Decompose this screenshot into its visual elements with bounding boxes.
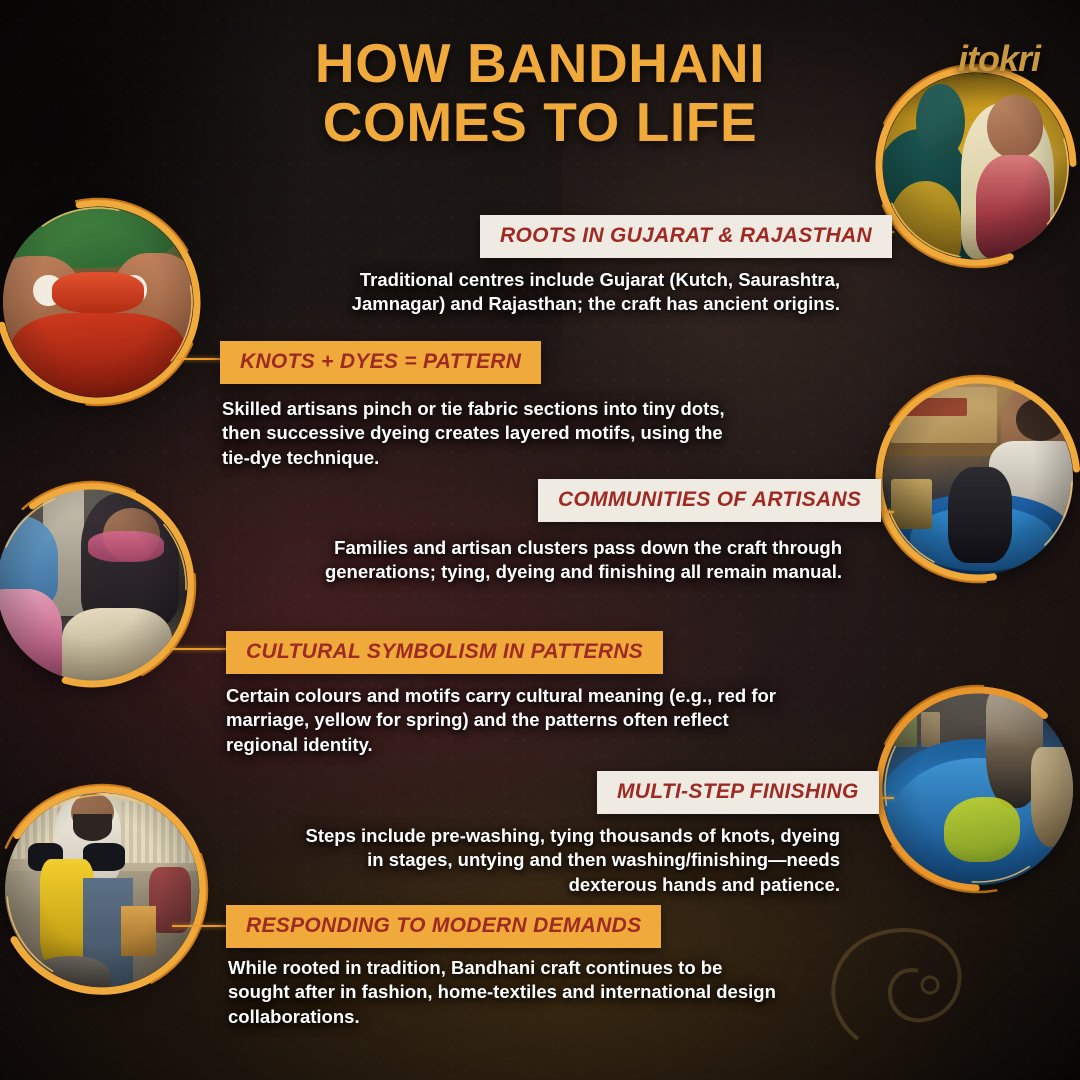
photo-disc <box>883 383 1073 575</box>
title-line-1: HOW BANDHANI <box>0 34 1080 93</box>
photo-disc <box>883 693 1073 885</box>
photo-artisan-lifting-yellow-fabric <box>0 782 210 998</box>
photo-scene <box>3 207 193 397</box>
photo-blue-dye-vat <box>872 682 1080 896</box>
section-body-communities: Families and artisan clusters pass down … <box>240 536 842 585</box>
paisley-motif-icon <box>798 889 1058 1069</box>
section-body-finishing: Steps include pre-washing, tying thousan… <box>300 824 840 897</box>
connector-line-symbolism <box>170 648 228 650</box>
photo-artisan-dyeing-blue-tub <box>872 372 1080 586</box>
photo-scene <box>5 793 199 987</box>
section-header-roots: ROOTS IN GUJARAT & RAJASTHAN <box>480 215 892 258</box>
photo-hands-tying-red-fabric <box>0 196 204 408</box>
section-body-roots: Traditional centres include Gujarat (Kut… <box>270 268 840 317</box>
photo-disc <box>0 489 187 681</box>
brand-logo[interactable]: itokri <box>958 38 1040 80</box>
title-line-2: COMES TO LIFE <box>0 93 1080 152</box>
infographic-canvas: itokri HOW BANDHANI COMES TO LIFE <box>0 0 1080 1080</box>
connector-line-modern <box>172 925 228 927</box>
photo-disc <box>3 207 193 397</box>
photo-scene <box>883 693 1073 885</box>
section-header-finishing: MULTI-STEP FINISHING <box>597 771 879 814</box>
page-title: HOW BANDHANI COMES TO LIFE <box>0 34 1080 153</box>
section-header-communities: COMMUNITIES OF ARTISANS <box>538 479 881 522</box>
section-header-symbolism: CULTURAL SYMBOLISM IN PATTERNS <box>226 631 663 674</box>
photo-scene <box>0 489 187 681</box>
section-body-symbolism: Certain colours and motifs carry cultura… <box>226 684 776 757</box>
photo-scene <box>883 383 1073 575</box>
section-header-knots: KNOTS + DYES = PATTERN <box>220 341 541 384</box>
photo-women-finishing-fabric <box>0 478 198 692</box>
photo-disc <box>5 793 199 987</box>
section-body-modern: While rooted in tradition, Bandhani craf… <box>228 956 788 1029</box>
section-header-modern: RESPONDING TO MODERN DEMANDS <box>226 905 661 948</box>
section-body-knots: Skilled artisans pinch or tie fabric sec… <box>222 397 752 470</box>
